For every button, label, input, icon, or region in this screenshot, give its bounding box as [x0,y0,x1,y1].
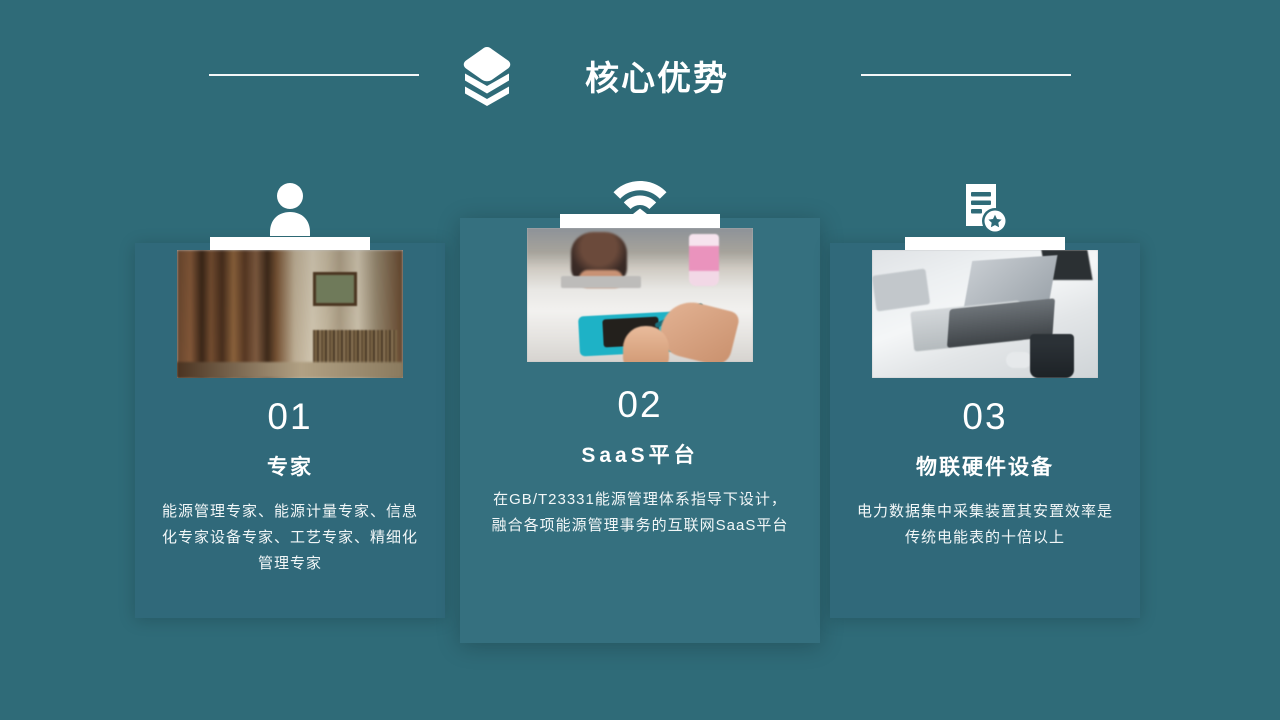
stacked-layers-icon [455,44,519,106]
card-03-body: 03 物联硬件设备 电力数据集中采集装置其安置效率是传统电能表的十倍以上 [830,398,1140,551]
card-title: SaaS平台 [460,439,820,469]
card-description: 在GB/T23331能源管理体系指导下设计，融合各项能源管理事务的互联网SaaS… [460,487,820,539]
laptop-desk-photo [872,250,1098,378]
feature-card-02[interactable]: 02 SaaS平台 在GB/T23331能源管理体系指导下设计，融合各项能源管理… [460,218,820,643]
header-rule-right [861,74,1071,76]
feature-card-03[interactable]: 03 物联硬件设备 电力数据集中采集装置其安置效率是传统电能表的十倍以上 [830,243,1140,618]
person-icon [260,180,320,236]
card-number: 03 [830,398,1140,435]
desk-meeting-tablet-photo [527,228,753,362]
slide-header: 核心优势 [0,40,1280,110]
card-title: 物联硬件设备 [830,451,1140,481]
card-description: 电力数据集中采集装置其安置效率是传统电能表的十倍以上 [830,499,1140,551]
header-rule-left [209,74,419,76]
card-description: 能源管理专家、能源计量专家、信息化专家设备专家、工艺专家、精细化管理专家 [135,499,445,577]
slide-root: 核心优势 01 专家 能源管理专家、能源计量专家、信息化专家设备专家、工艺专家、… [0,0,1280,720]
wifi-icon [610,163,670,219]
card-title: 专家 [135,451,445,481]
card-03-photo-block [872,237,1098,378]
card-02-body: 02 SaaS平台 在GB/T23331能源管理体系指导下设计，融合各项能源管理… [460,386,820,539]
library-bookshelves-photo [177,250,403,378]
card-01-body: 01 专家 能源管理专家、能源计量专家、信息化专家设备专家、工艺专家、精细化管理… [135,398,445,577]
card-number: 02 [460,386,820,423]
page-title: 核心优势 [585,51,729,100]
page-title-slot: 核心优势 [585,51,825,100]
card-number: 01 [135,398,445,435]
card-01-photo-block [177,237,403,378]
card-02-photo-block [527,214,753,362]
feature-card-01[interactable]: 01 专家 能源管理专家、能源计量专家、信息化专家设备专家、工艺专家、精细化管理… [135,243,445,618]
certificate-star-icon [955,180,1015,236]
